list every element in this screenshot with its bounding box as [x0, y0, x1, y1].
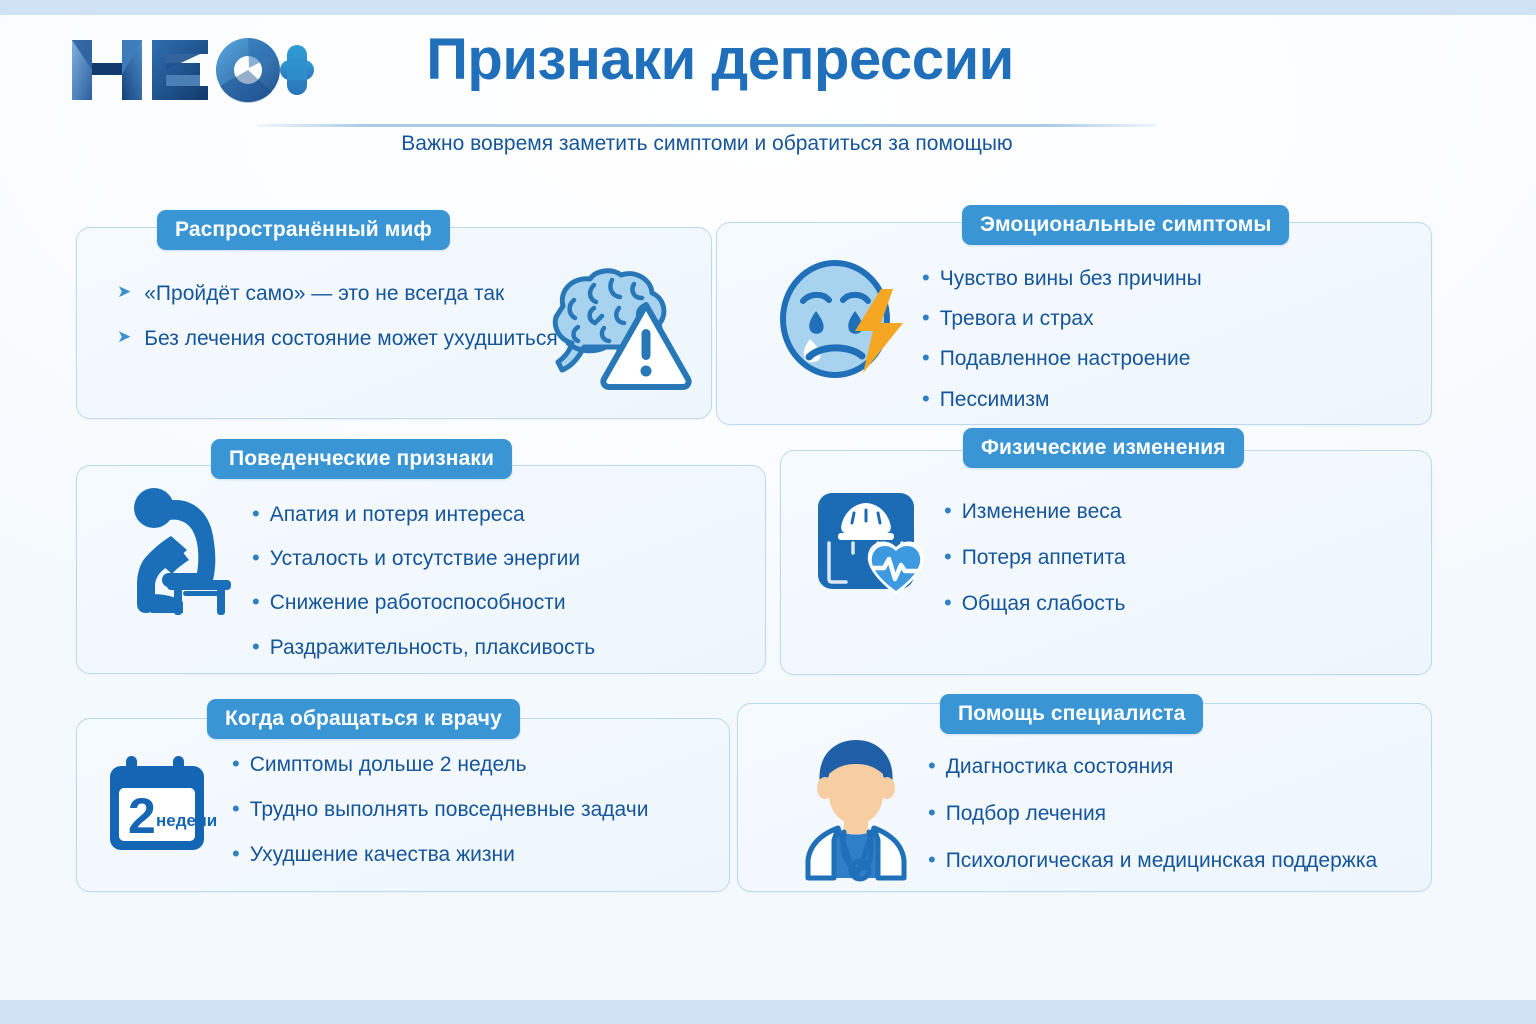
calendar-unit: недели: [156, 811, 217, 830]
list-item: • Психологическая и медицинская поддержк…: [928, 848, 1377, 873]
page-subtitle: Важно вовремя заметить симптоми и обрати…: [258, 132, 1156, 156]
list-item-label: Психологическая и медицинская поддержка: [946, 848, 1377, 873]
list-item: • Раздражительность, плаксивость: [252, 635, 595, 660]
calendar-two-weeks-icon: 2 недели: [104, 754, 216, 856]
list-item-label: Изменение веса: [962, 499, 1122, 524]
list-item: • Потеря аппетита: [944, 545, 1126, 570]
list-item: • Апатия и потеря интереса: [252, 502, 595, 527]
card-myth-bullets: ➤ «Пройдёт само» — это не всегда так ➤ Б…: [117, 281, 558, 351]
card-behavioral: Поведенческие признаки • Апатия и потеря…: [76, 465, 766, 674]
list-item-label: Пессимизм: [940, 387, 1050, 412]
list-item: • Изменение веса: [944, 499, 1126, 524]
dot-bullet-icon: •: [922, 266, 930, 289]
dot-bullet-icon: •: [252, 502, 260, 525]
dot-bullet-icon: •: [232, 752, 240, 775]
list-item: • Трудно выполнять повседневные задачи: [232, 797, 648, 822]
list-item: • Подбор лечения: [928, 801, 1377, 826]
dot-bullet-icon: •: [252, 590, 260, 613]
card-emotional-bullets: • Чувство вины без причины • Тревога и с…: [922, 266, 1202, 412]
dot-bullet-icon: •: [252, 546, 260, 569]
list-item: • Ухудшение качества жизни: [232, 842, 648, 867]
dot-bullet-icon: •: [928, 754, 936, 777]
card-physical: Физические изменения • Изменение веса • …: [780, 450, 1432, 675]
card-physical-badge: Физические изменения: [963, 428, 1244, 468]
list-item-label: Раздражительность, плаксивость: [270, 635, 596, 660]
bottom-accent-band: [0, 1000, 1536, 1024]
card-specialist-help: Помощь специалиста • Диагностика состоян…: [737, 703, 1432, 892]
card-specialist-help-bullets: • Диагностика состояния • Подбор лечения…: [928, 754, 1377, 874]
card-myth: Распространённый миф ➤ «Пройдёт само» — …: [76, 227, 712, 419]
doctor-icon: [786, 736, 926, 878]
dot-bullet-icon: •: [944, 591, 952, 614]
card-specialist-help-badge: Помощь специалиста: [940, 694, 1203, 734]
page-header: Признаки депрессии Важно вовремя заметит…: [0, 0, 1536, 175]
dot-bullet-icon: •: [922, 346, 930, 369]
list-item-label: Чувство вины без причины: [940, 266, 1202, 291]
list-item: • Подавленное настроение: [922, 346, 1202, 371]
list-item-label: Потеря аппетита: [962, 545, 1126, 570]
list-item: • Тревога и страх: [922, 306, 1202, 331]
list-item: • Чувство вины без причины: [922, 266, 1202, 291]
slumped-person-icon: [123, 484, 235, 616]
list-item: ➤ «Пройдёт само» — это не всегда так: [117, 281, 558, 306]
list-item-label: Ухудшение качества жизни: [250, 842, 515, 867]
list-item-label: Усталость и отсутствие энергии: [270, 546, 580, 571]
list-item-label: Трудно выполнять повседневные задачи: [250, 797, 649, 822]
card-emotional-badge: Эмоциональные симптомы: [962, 205, 1289, 245]
list-item-label: Без лечения состояние может ухудшиться: [144, 326, 557, 351]
dot-bullet-icon: •: [252, 635, 260, 658]
weight-scale-heart-icon: [816, 491, 941, 613]
infographic-page: Признаки депрессии Важно вовремя заметит…: [0, 0, 1536, 1024]
list-item: • Симптомы дольше 2 недель: [232, 752, 648, 777]
dot-bullet-icon: •: [922, 306, 930, 329]
header-divider: [258, 124, 1156, 127]
list-item: • Снижение работоспособности: [252, 590, 595, 615]
list-item-label: Апатия и потеря интереса: [270, 502, 525, 527]
dot-bullet-icon: •: [232, 797, 240, 820]
list-item-label: «Пройдёт само» — это не всегда так: [144, 281, 504, 306]
card-physical-bullets: • Изменение веса • Потеря аппетита • Общ…: [944, 499, 1126, 617]
dot-bullet-icon: •: [944, 499, 952, 522]
list-item-label: Диагностика состояния: [946, 754, 1174, 779]
dot-bullet-icon: •: [928, 848, 936, 871]
card-behavioral-badge: Поведенческие признаки: [211, 439, 512, 479]
card-when-to-see-doctor-badge: Когда обращаться к врачу: [207, 699, 520, 739]
card-emotional: Эмоциональные симптомы • Чувство вины бе…: [716, 222, 1432, 425]
brain-warning-icon: [514, 256, 694, 391]
card-when-to-see-doctor: Когда обращаться к врачу • Симптомы доль…: [76, 718, 730, 892]
dot-bullet-icon: •: [922, 387, 930, 410]
card-when-to-see-doctor-bullets: • Симптомы дольше 2 недель • Трудно выпо…: [232, 752, 648, 868]
page-title: Признаки депрессии: [340, 26, 1100, 93]
list-item-label: Общая слабость: [962, 591, 1126, 616]
card-behavioral-bullets: • Апатия и потеря интереса • Усталость и…: [252, 502, 595, 660]
calendar-number: 2: [128, 788, 156, 844]
dot-bullet-icon: •: [944, 545, 952, 568]
list-item-label: Тревога и страх: [940, 306, 1094, 331]
arrow-bullet-icon: ➤: [117, 281, 131, 302]
list-item: • Диагностика состояния: [928, 754, 1377, 779]
neo-plus-logo: [70, 30, 315, 110]
list-item-label: Подбор лечения: [946, 801, 1106, 826]
list-item-label: Снижение работоспособности: [270, 590, 566, 615]
list-item: • Пессимизм: [922, 387, 1202, 412]
dot-bullet-icon: •: [232, 842, 240, 865]
list-item-label: Симптомы дольше 2 недель: [250, 752, 527, 777]
card-myth-badge: Распространённый миф: [157, 210, 450, 250]
list-item: ➤ Без лечения состояние может ухудшиться: [117, 326, 558, 351]
sad-face-lightning-icon: [777, 253, 907, 385]
list-item: • Усталость и отсутствие энергии: [252, 546, 595, 571]
arrow-bullet-icon: ➤: [117, 326, 131, 347]
list-item-label: Подавленное настроение: [940, 346, 1191, 371]
dot-bullet-icon: •: [928, 801, 936, 824]
list-item: • Общая слабость: [944, 591, 1126, 616]
